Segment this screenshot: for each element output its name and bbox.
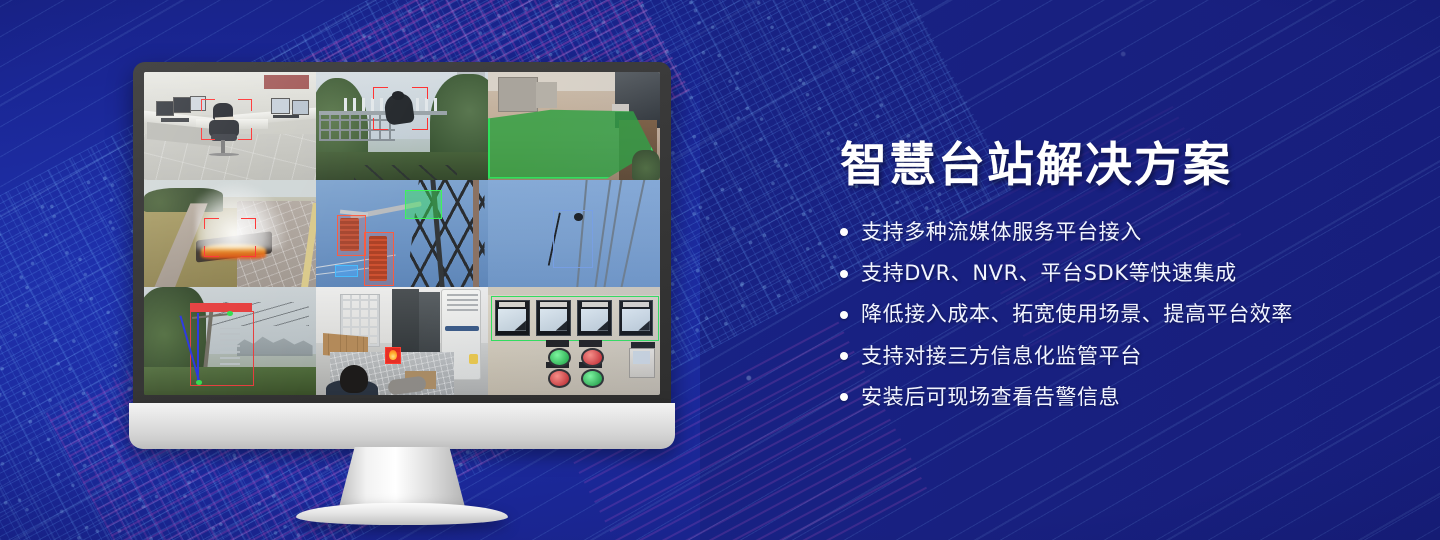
concrete-wall — [536, 82, 557, 108]
feature-list: 支持多种流媒体服务平台接入 支持DVR、NVR、平台SDK等快速集成 降低接入成… — [840, 219, 1420, 411]
detection-box-pole — [190, 311, 254, 386]
feature-text: 支持多种流媒体服务平台接入 — [861, 219, 1142, 246]
detection-box-flame — [385, 347, 401, 364]
concrete-wall — [498, 77, 538, 111]
detection-bracket-fire — [204, 218, 256, 257]
detection-label-bar — [190, 303, 252, 312]
monitor-screen-small — [271, 98, 290, 114]
analog-gauge — [495, 300, 530, 335]
list-item: 降低接入成本、拓宽使用场景、提高平台效率 — [840, 301, 1420, 328]
wall-banner — [264, 75, 309, 89]
video-cell-power-line[interactable] — [488, 180, 660, 288]
keyboard — [161, 118, 189, 121]
detection-box-insulator — [337, 215, 367, 256]
banner-copy: 智慧台站解决方案 支持多种流媒体服务平台接入 支持DVR、NVR、平台SDK等快… — [840, 140, 1420, 425]
panel-top-band — [488, 287, 660, 295]
monitor-screen-small — [292, 100, 309, 115]
equipment-cabinet — [419, 292, 440, 354]
person-head — [340, 365, 368, 393]
list-item: 支持DVR、NVR、平台SDK等快速集成 — [840, 260, 1420, 287]
list-item: 安装后可现场查看告警信息 — [840, 384, 1420, 411]
monitor-chin — [129, 403, 675, 449]
analog-gauge — [536, 300, 571, 335]
analog-gauge — [619, 300, 654, 335]
bullet-dot-icon — [840, 228, 848, 236]
page-title: 智慧台站解决方案 — [840, 140, 1420, 193]
bullet-dot-icon — [840, 311, 848, 319]
power-line — [603, 180, 623, 288]
keyboard — [273, 115, 299, 118]
foreground-structure — [354, 165, 457, 180]
power-line — [593, 180, 611, 288]
analog-gauge — [577, 300, 612, 335]
wall-switch-box — [629, 348, 655, 378]
video-wall-grid — [144, 72, 660, 395]
indicator-lamp-green — [548, 348, 571, 367]
air-conditioner-grill — [447, 292, 478, 311]
detection-bracket-intruder — [373, 87, 428, 130]
feature-text: 支持对接三方信息化监管平台 — [861, 343, 1142, 370]
bullet-dot-icon — [840, 270, 848, 278]
concrete-slab — [612, 104, 629, 112]
video-cell-equipment-room[interactable] — [316, 287, 488, 395]
indicator-lamp-red — [581, 348, 604, 367]
video-cell-control-room[interactable] — [144, 72, 316, 180]
power-line — [620, 180, 646, 288]
indicator-lamp-red — [548, 369, 571, 388]
banner-stage: 智慧台站解决方案 支持多种流媒体服务平台接入 支持DVR、NVR、平台SDK等快… — [0, 0, 1440, 540]
monitor-screen — [144, 72, 660, 395]
video-cell-pole-tilt[interactable] — [144, 287, 316, 395]
bullet-dot-icon — [840, 393, 848, 401]
video-cell-yard-region[interactable] — [488, 72, 660, 180]
feature-text: 安装后可现场查看告警信息 — [861, 384, 1120, 411]
air-conditioner-label — [469, 354, 478, 364]
video-cell-fire-smoke[interactable] — [144, 180, 316, 288]
monitor-screen-small — [156, 101, 173, 116]
detection-box-insulator — [364, 232, 394, 286]
monitor-stand-base — [296, 503, 508, 525]
list-item: 支持多种流媒体服务平台接入 — [840, 219, 1420, 246]
video-cell-transmission-tower[interactable] — [316, 180, 488, 288]
monitor-screen-small — [173, 97, 190, 113]
feature-text: 支持DVR、NVR、平台SDK等快速集成 — [861, 260, 1237, 287]
monitor-stand-neck — [338, 447, 466, 511]
detection-box-foreign-object — [553, 210, 593, 268]
monitor-mockup — [120, 55, 680, 475]
indicator-lamp-green — [581, 369, 604, 388]
indicator-label — [579, 340, 601, 346]
detection-bracket-person — [201, 99, 253, 140]
shrub — [632, 150, 660, 180]
video-cell-fence-intrusion[interactable] — [316, 72, 488, 180]
indicator-label — [546, 340, 568, 346]
detection-box-bird-nest — [335, 265, 358, 278]
air-conditioner-panel — [445, 326, 479, 331]
feature-text: 降低接入成本、拓宽使用场景、提高平台效率 — [861, 301, 1293, 328]
tower-leg — [473, 180, 479, 288]
list-item: 支持对接三方信息化监管平台 — [840, 343, 1420, 370]
bullet-dot-icon — [840, 352, 848, 360]
video-cell-instrument-panel[interactable] — [488, 287, 660, 395]
detection-box-foreign-object — [405, 190, 441, 219]
office-chair-base — [209, 153, 238, 156]
